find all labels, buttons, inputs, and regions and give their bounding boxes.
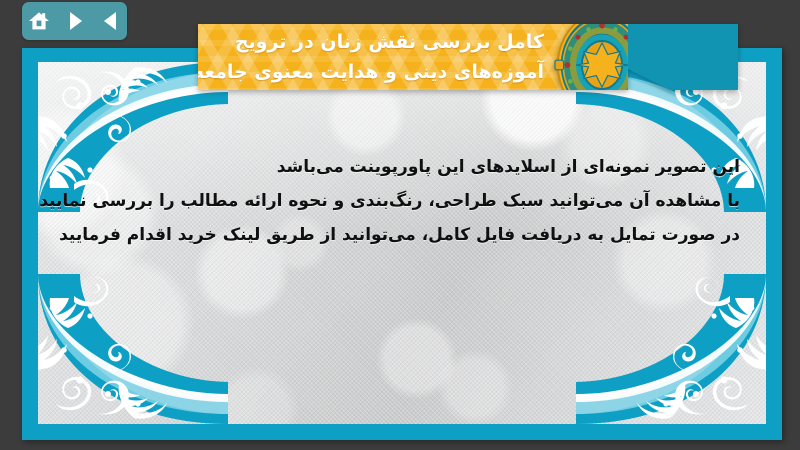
banner-title-area: کامل بررسی نقش زنان در ترویج آموزه‌های د… bbox=[198, 24, 628, 90]
slide-body-text: این تصویر نمونه‌ای از اسلایدهای این پاور… bbox=[64, 150, 740, 252]
title-line-2: آموزه‌های دینی و هدایت معنوی جامعه bbox=[212, 57, 544, 87]
banner-arrow-shape bbox=[628, 24, 738, 90]
prev-arrow-icon bbox=[102, 11, 120, 31]
body-line-3: در صورت تمایل به دریافت فایل کامل، می‌تو… bbox=[64, 218, 740, 252]
next-arrow-icon bbox=[66, 11, 84, 31]
back-button[interactable] bbox=[98, 8, 124, 34]
home-icon bbox=[28, 10, 50, 32]
islamic-medallion-icon bbox=[554, 24, 628, 90]
body-line-1: این تصویر نمونه‌ای از اسلایدهای این پاور… bbox=[64, 150, 740, 184]
corner-ornament-bottom-right bbox=[576, 274, 766, 424]
slide-viewer: این تصویر نمونه‌ای از اسلایدهای این پاور… bbox=[0, 0, 800, 450]
corner-ornament-bottom-left bbox=[38, 274, 228, 424]
forward-button[interactable] bbox=[62, 8, 88, 34]
slide-canvas[interactable]: این تصویر نمونه‌ای از اسلایدهای این پاور… bbox=[22, 48, 782, 440]
slide-content-panel: این تصویر نمونه‌ای از اسلایدهای این پاور… bbox=[38, 62, 766, 424]
slide-title-banner: کامل بررسی نقش زنان در ترویج آموزه‌های د… bbox=[198, 24, 738, 90]
body-line-2: با مشاهده آن می‌توانید سبک طراحی، رنگ‌بن… bbox=[64, 184, 740, 218]
title-line-1: کامل بررسی نقش زنان در ترویج bbox=[212, 27, 544, 57]
home-button[interactable] bbox=[26, 8, 52, 34]
navigation-toolbar bbox=[22, 2, 127, 40]
